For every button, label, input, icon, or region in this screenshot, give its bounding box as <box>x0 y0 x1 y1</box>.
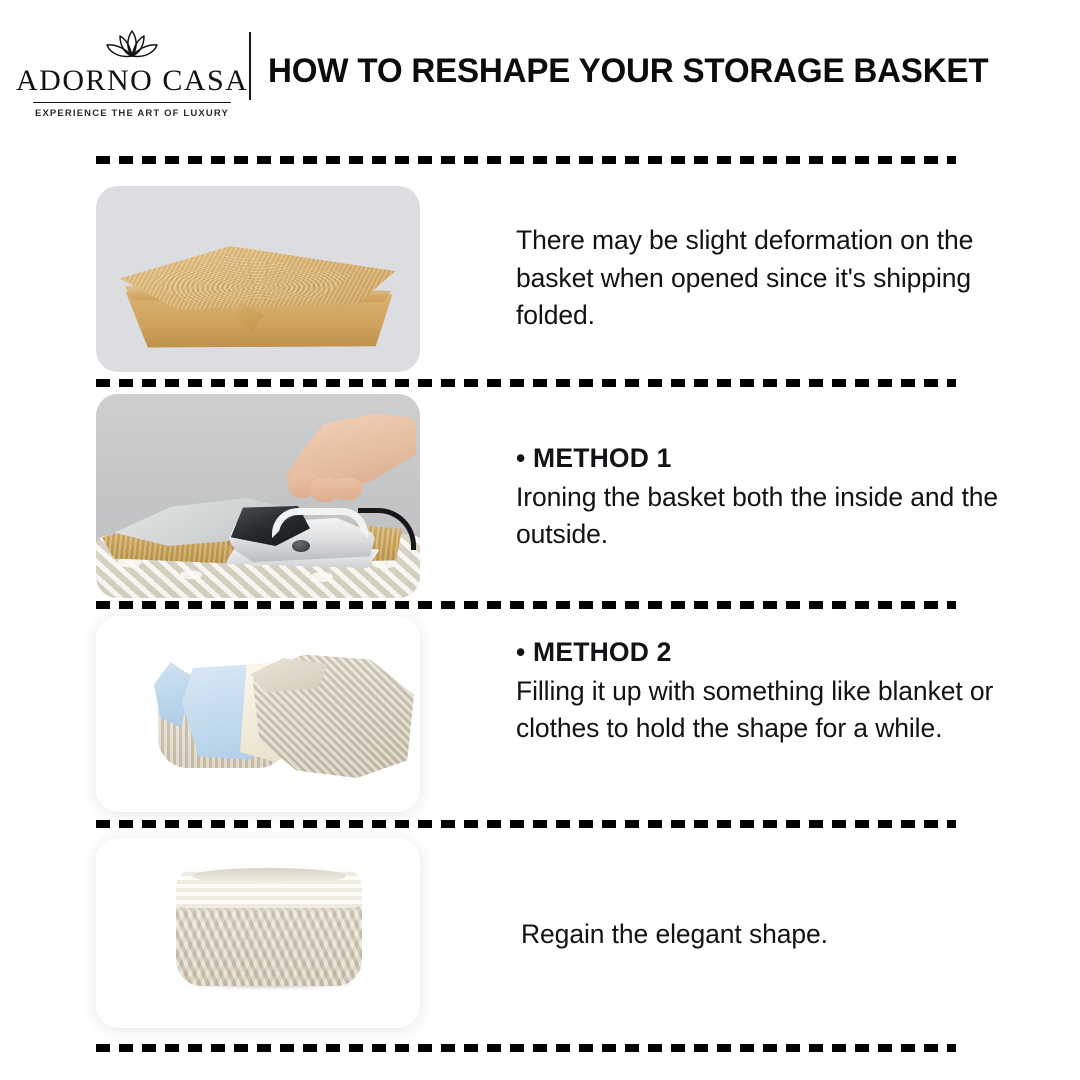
ironing-basket-photo <box>96 394 420 598</box>
brand-rule <box>33 102 231 103</box>
step-2-text: • METHOD 1 Ironing the basket both the i… <box>516 440 1016 554</box>
header-vertical-divider <box>249 32 251 100</box>
step-4-body: Regain the elegant shape. <box>521 916 1021 954</box>
brand-tagline: EXPERIENCE THE ART OF LUXURY <box>16 108 248 119</box>
dashed-divider-3 <box>96 601 956 609</box>
step-3-body: Filling it up with something like blanke… <box>516 673 1016 748</box>
page-title: HOW TO RESHAPE YOUR STORAGE BASKET <box>268 52 1036 91</box>
dashed-divider-2 <box>96 379 956 387</box>
lotus-flower-icon <box>101 28 163 64</box>
step-2-body: Ironing the basket both the inside and t… <box>516 479 1016 554</box>
iron-knob <box>292 540 310 552</box>
brand-logo: ADORNO CASA EXPERIENCE THE ART OF LUXURY <box>16 28 248 119</box>
dashed-divider-1 <box>96 156 956 164</box>
dashed-divider-5 <box>96 1044 956 1052</box>
folded-basket-illustration <box>114 246 404 356</box>
method-1-heading: • METHOD 1 <box>516 440 1016 478</box>
finished-basket-photo <box>96 838 420 1028</box>
finished-basket-opening <box>192 868 346 884</box>
step-3-text: • METHOD 2 Filling it up with something … <box>516 634 1016 748</box>
finger-3 <box>332 478 362 500</box>
dashed-divider-4 <box>96 820 956 828</box>
step-1-body: There may be slight deformation on the b… <box>516 222 1016 335</box>
step-4-text: Regain the elegant shape. <box>521 916 1021 954</box>
filled-basket-photo <box>96 616 420 812</box>
infographic-page: ADORNO CASA EXPERIENCE THE ART OF LUXURY… <box>0 0 1080 1080</box>
folded-basket-photo <box>96 186 420 372</box>
step-1-text: There may be slight deformation on the b… <box>516 222 1016 335</box>
method-2-heading: • METHOD 2 <box>516 634 1016 672</box>
brand-name: ADORNO CASA <box>16 66 248 96</box>
header: ADORNO CASA EXPERIENCE THE ART OF LUXURY… <box>0 0 1080 140</box>
iron-handle <box>272 508 368 538</box>
